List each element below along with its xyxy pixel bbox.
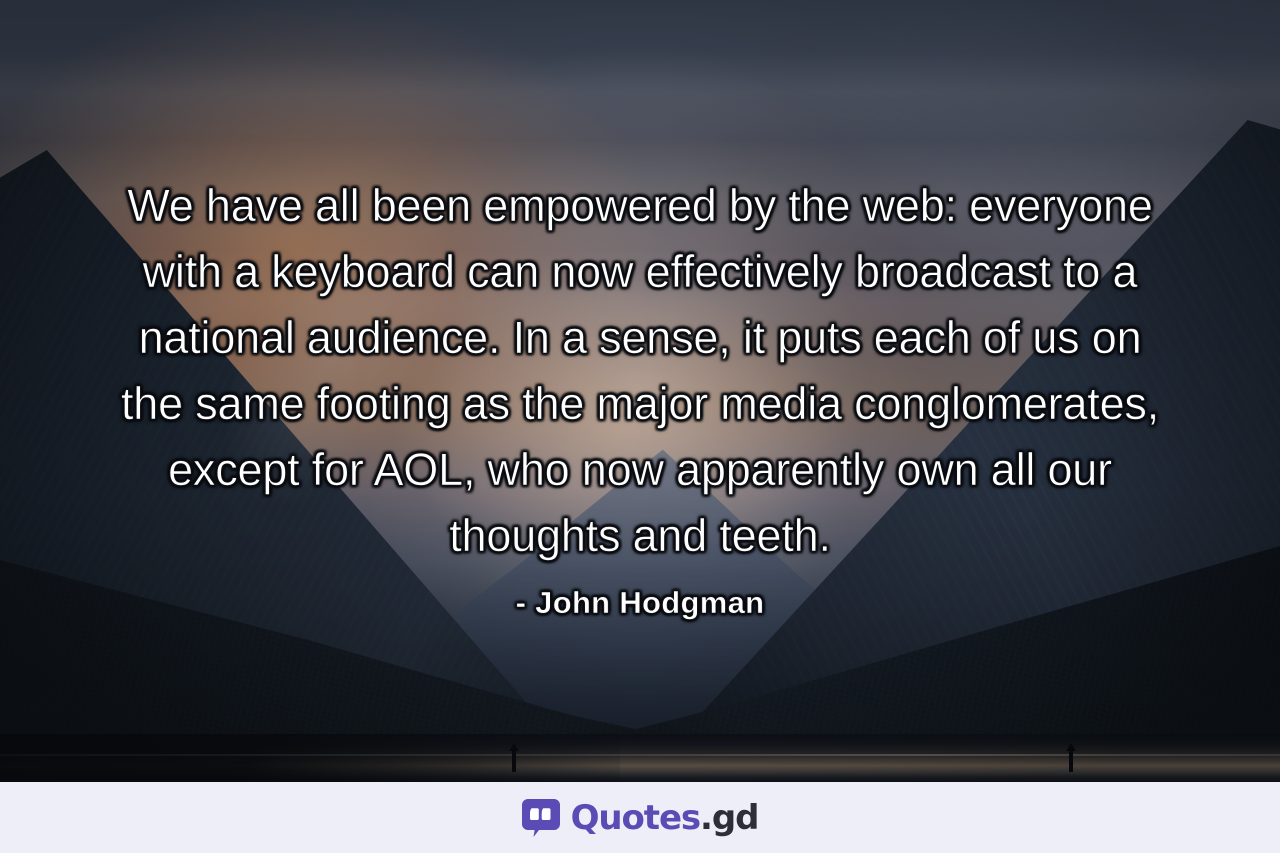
quote-bubble-icon (522, 799, 560, 837)
brand-dot: . (700, 798, 712, 838)
quote-hero: We have all been empowered by the web: e… (0, 0, 1280, 782)
brand-logo-link[interactable]: Quotes.gd (522, 799, 759, 837)
quote-author: - John Hodgman (516, 585, 765, 621)
quote-text: We have all been empowered by the web: e… (120, 173, 1160, 569)
brand-tld: gd (712, 798, 758, 838)
brand-wordmark: Quotes.gd (571, 801, 759, 835)
quote-image-page: We have all been empowered by the web: e… (0, 0, 1280, 853)
brand-name: Quotes (571, 798, 700, 838)
site-footer: Quotes.gd (0, 782, 1280, 853)
quote-content: We have all been empowered by the web: e… (0, 0, 1280, 782)
